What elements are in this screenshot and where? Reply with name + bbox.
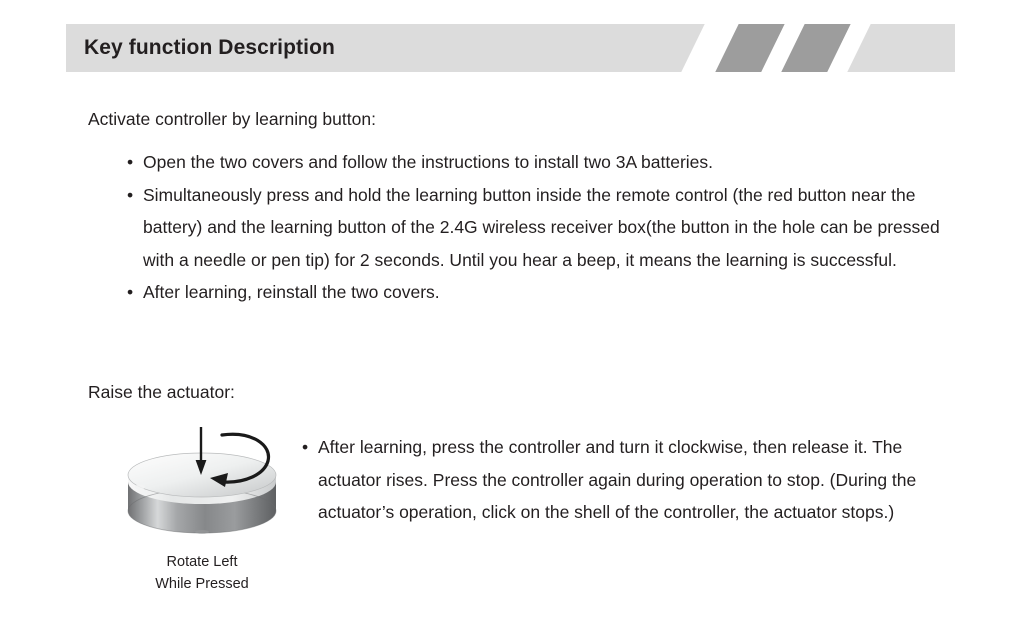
knob-caption: Rotate Left While Pressed bbox=[116, 551, 288, 595]
list-item: • Simultaneously press and hold the lear… bbox=[127, 179, 957, 277]
activate-section-heading: Activate controller by learning button: bbox=[88, 109, 376, 130]
bullet-glyph: • bbox=[127, 276, 133, 309]
bullet-glyph: • bbox=[302, 431, 308, 464]
list-item-text: After learning, press the controller and… bbox=[318, 437, 916, 522]
bullet-glyph: • bbox=[127, 146, 133, 179]
knob-figure: Rotate Left While Pressed bbox=[116, 425, 288, 595]
header-stripe-decoration bbox=[665, 24, 955, 72]
list-item: • Open the two covers and follow the ins… bbox=[127, 146, 957, 179]
list-item-text: After learning, reinstall the two covers… bbox=[143, 282, 440, 302]
knob-illustration bbox=[116, 425, 288, 545]
rotate-left-arrow bbox=[116, 425, 288, 545]
page-header-bar: Key function Description bbox=[66, 24, 955, 72]
list-item: • After learning, press the controller a… bbox=[302, 431, 927, 529]
page-title: Key function Description bbox=[84, 36, 335, 60]
knob-caption-line-1: Rotate Left bbox=[116, 551, 288, 573]
list-item-text: Open the two covers and follow the instr… bbox=[143, 152, 713, 172]
raise-bullet-list: • After learning, press the controller a… bbox=[302, 431, 927, 529]
list-item-text: Simultaneously press and hold the learni… bbox=[143, 185, 940, 270]
activate-bullet-list: • Open the two covers and follow the ins… bbox=[127, 146, 957, 309]
raise-section-heading: Raise the actuator: bbox=[88, 382, 235, 403]
bullet-glyph: • bbox=[127, 179, 133, 212]
list-item: • After learning, reinstall the two cove… bbox=[127, 276, 957, 309]
knob-caption-line-2: While Pressed bbox=[116, 573, 288, 595]
